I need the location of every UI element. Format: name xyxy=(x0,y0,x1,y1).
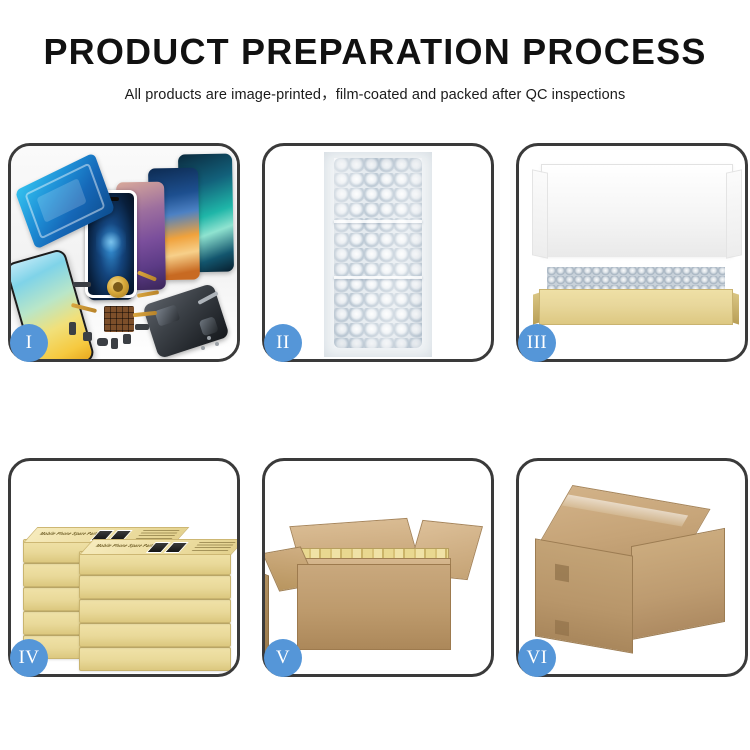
part-bracket-icon xyxy=(135,324,149,330)
box-lid-icon xyxy=(541,164,733,257)
step-badge-6: VI xyxy=(518,639,556,677)
stacked-box-right-lid: Mobile Phone Spare Parts xyxy=(79,539,237,555)
step-panel-5: V xyxy=(262,458,494,677)
part-chip-icon xyxy=(83,332,92,341)
box-label-left: Mobile Phone Spare Parts xyxy=(38,531,101,536)
box-label-right: Mobile Phone Spare Parts xyxy=(94,543,157,548)
box-front-face xyxy=(539,289,733,325)
step-badge-4: IV xyxy=(10,639,48,677)
wrap-sheen xyxy=(334,158,422,348)
stacked-box-right-1: Mobile Phone Spare Parts xyxy=(79,551,231,575)
step-panel-2: II xyxy=(262,143,494,362)
stacked-box-right-3 xyxy=(79,599,231,623)
box-spec-lines-right xyxy=(191,542,236,552)
step-5-image xyxy=(265,461,491,674)
carton-front-face xyxy=(297,564,451,650)
kraft-box-icon xyxy=(539,267,733,325)
part-button-icon xyxy=(97,338,108,346)
chip-grid-icon xyxy=(104,306,134,332)
screw-2-icon xyxy=(215,342,219,346)
screw-1-icon xyxy=(207,336,211,340)
copper-coil-icon xyxy=(107,276,129,298)
step-2-image xyxy=(265,146,491,359)
carton-side-face xyxy=(265,565,269,656)
part-module-icon xyxy=(111,338,118,349)
step-panel-4: Mobile Phone Spare Parts Mobile Phone Sp… xyxy=(8,458,240,677)
bubble-wrap-bubbles-icon xyxy=(334,158,422,348)
step-badge-3: III xyxy=(518,324,556,362)
part-speaker-icon xyxy=(73,282,91,287)
stacked-box-right-5 xyxy=(79,647,231,671)
page-title: PRODUCT PREPARATION PROCESS xyxy=(0,34,750,70)
part-connector-icon xyxy=(69,322,76,335)
step-panel-3: III xyxy=(516,143,748,362)
step-1-image xyxy=(11,146,237,359)
step-badge-2: II xyxy=(264,324,302,362)
part-sensor-icon xyxy=(123,334,131,344)
stacked-box-right-4 xyxy=(79,623,231,647)
step-3-image xyxy=(519,146,745,359)
screw-3-icon xyxy=(201,346,205,350)
stacked-box-right-2 xyxy=(79,575,231,599)
step-badge-1: I xyxy=(10,324,48,362)
step-panel-1: I xyxy=(8,143,240,362)
step-4-image: Mobile Phone Spare Parts Mobile Phone Sp… xyxy=(11,461,237,674)
sealed-carton-front-face xyxy=(535,538,633,653)
step-6-image xyxy=(519,461,745,674)
step-badge-5: V xyxy=(264,639,302,677)
page-header: PRODUCT PREPARATION PROCESS All products… xyxy=(0,0,750,104)
sealed-carton-right-face xyxy=(631,528,725,640)
process-step-grid: I II III xyxy=(8,143,748,677)
carton-handle-slot-2 xyxy=(555,620,569,636)
box-stack-icon: Mobile Phone Spare Parts Mobile Phone Sp… xyxy=(19,483,235,663)
step-panel-6: VI xyxy=(516,458,748,677)
page-subtitle: All products are image-printed，film-coat… xyxy=(0,83,750,104)
carton-handle-slot-1 xyxy=(555,564,569,582)
